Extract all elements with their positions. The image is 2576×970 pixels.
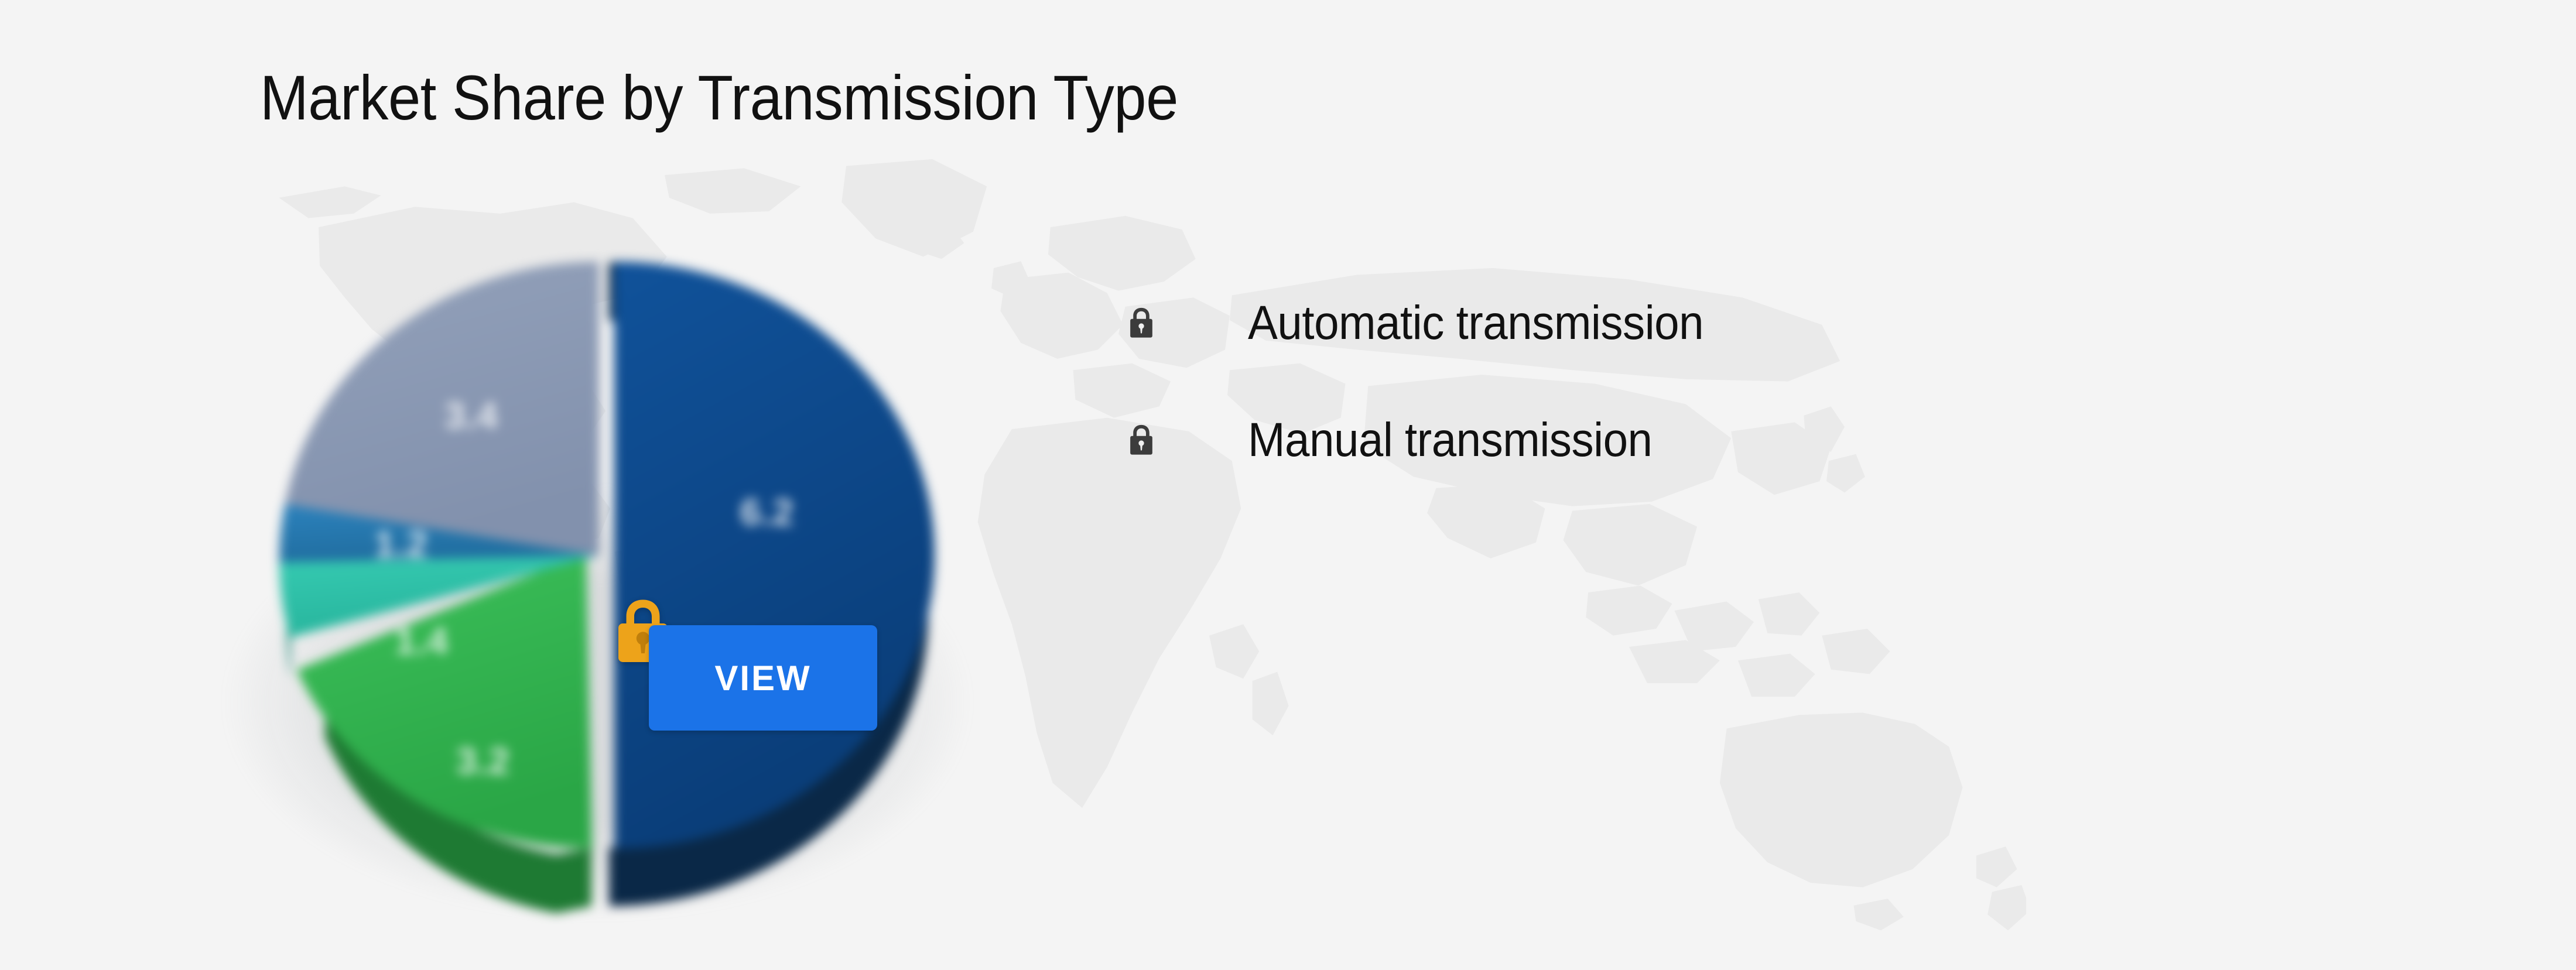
pie-chart-container: 6.2 3.2 1.4 1.2 3.4 VIEW — [146, 176, 1060, 954]
pie-slice-label-2: 3.2 — [456, 740, 510, 782]
legend-item-manual-transmission[interactable]: Manual transmission — [1127, 404, 1947, 477]
chart-legend: Automatic transmission Manual transmissi… — [1127, 287, 1947, 521]
padlock-icon — [1127, 306, 1155, 340]
pie-slice-label-4: 1.2 — [374, 523, 428, 565]
pie-slice-label-5: 3.4 — [444, 395, 498, 437]
padlock-icon — [1127, 423, 1155, 457]
page-title: Market Share by Transmission Type — [260, 61, 1178, 134]
pie-slice-5 — [286, 262, 598, 555]
legend-item-label: Automatic transmission — [1248, 297, 1703, 349]
pie-chart: 6.2 3.2 1.4 1.2 3.4 — [146, 176, 1060, 954]
pie-slice-label-3: 1.4 — [395, 620, 449, 662]
chart-lock-overlay: VIEW — [615, 596, 861, 731]
view-button[interactable]: VIEW — [649, 625, 877, 731]
pie-slice-label-1: 6.2 — [740, 491, 794, 533]
legend-item-automatic-transmission[interactable]: Automatic transmission — [1127, 287, 1947, 359]
view-button-label: VIEW — [714, 658, 811, 698]
legend-item-label: Manual transmission — [1248, 414, 1653, 467]
